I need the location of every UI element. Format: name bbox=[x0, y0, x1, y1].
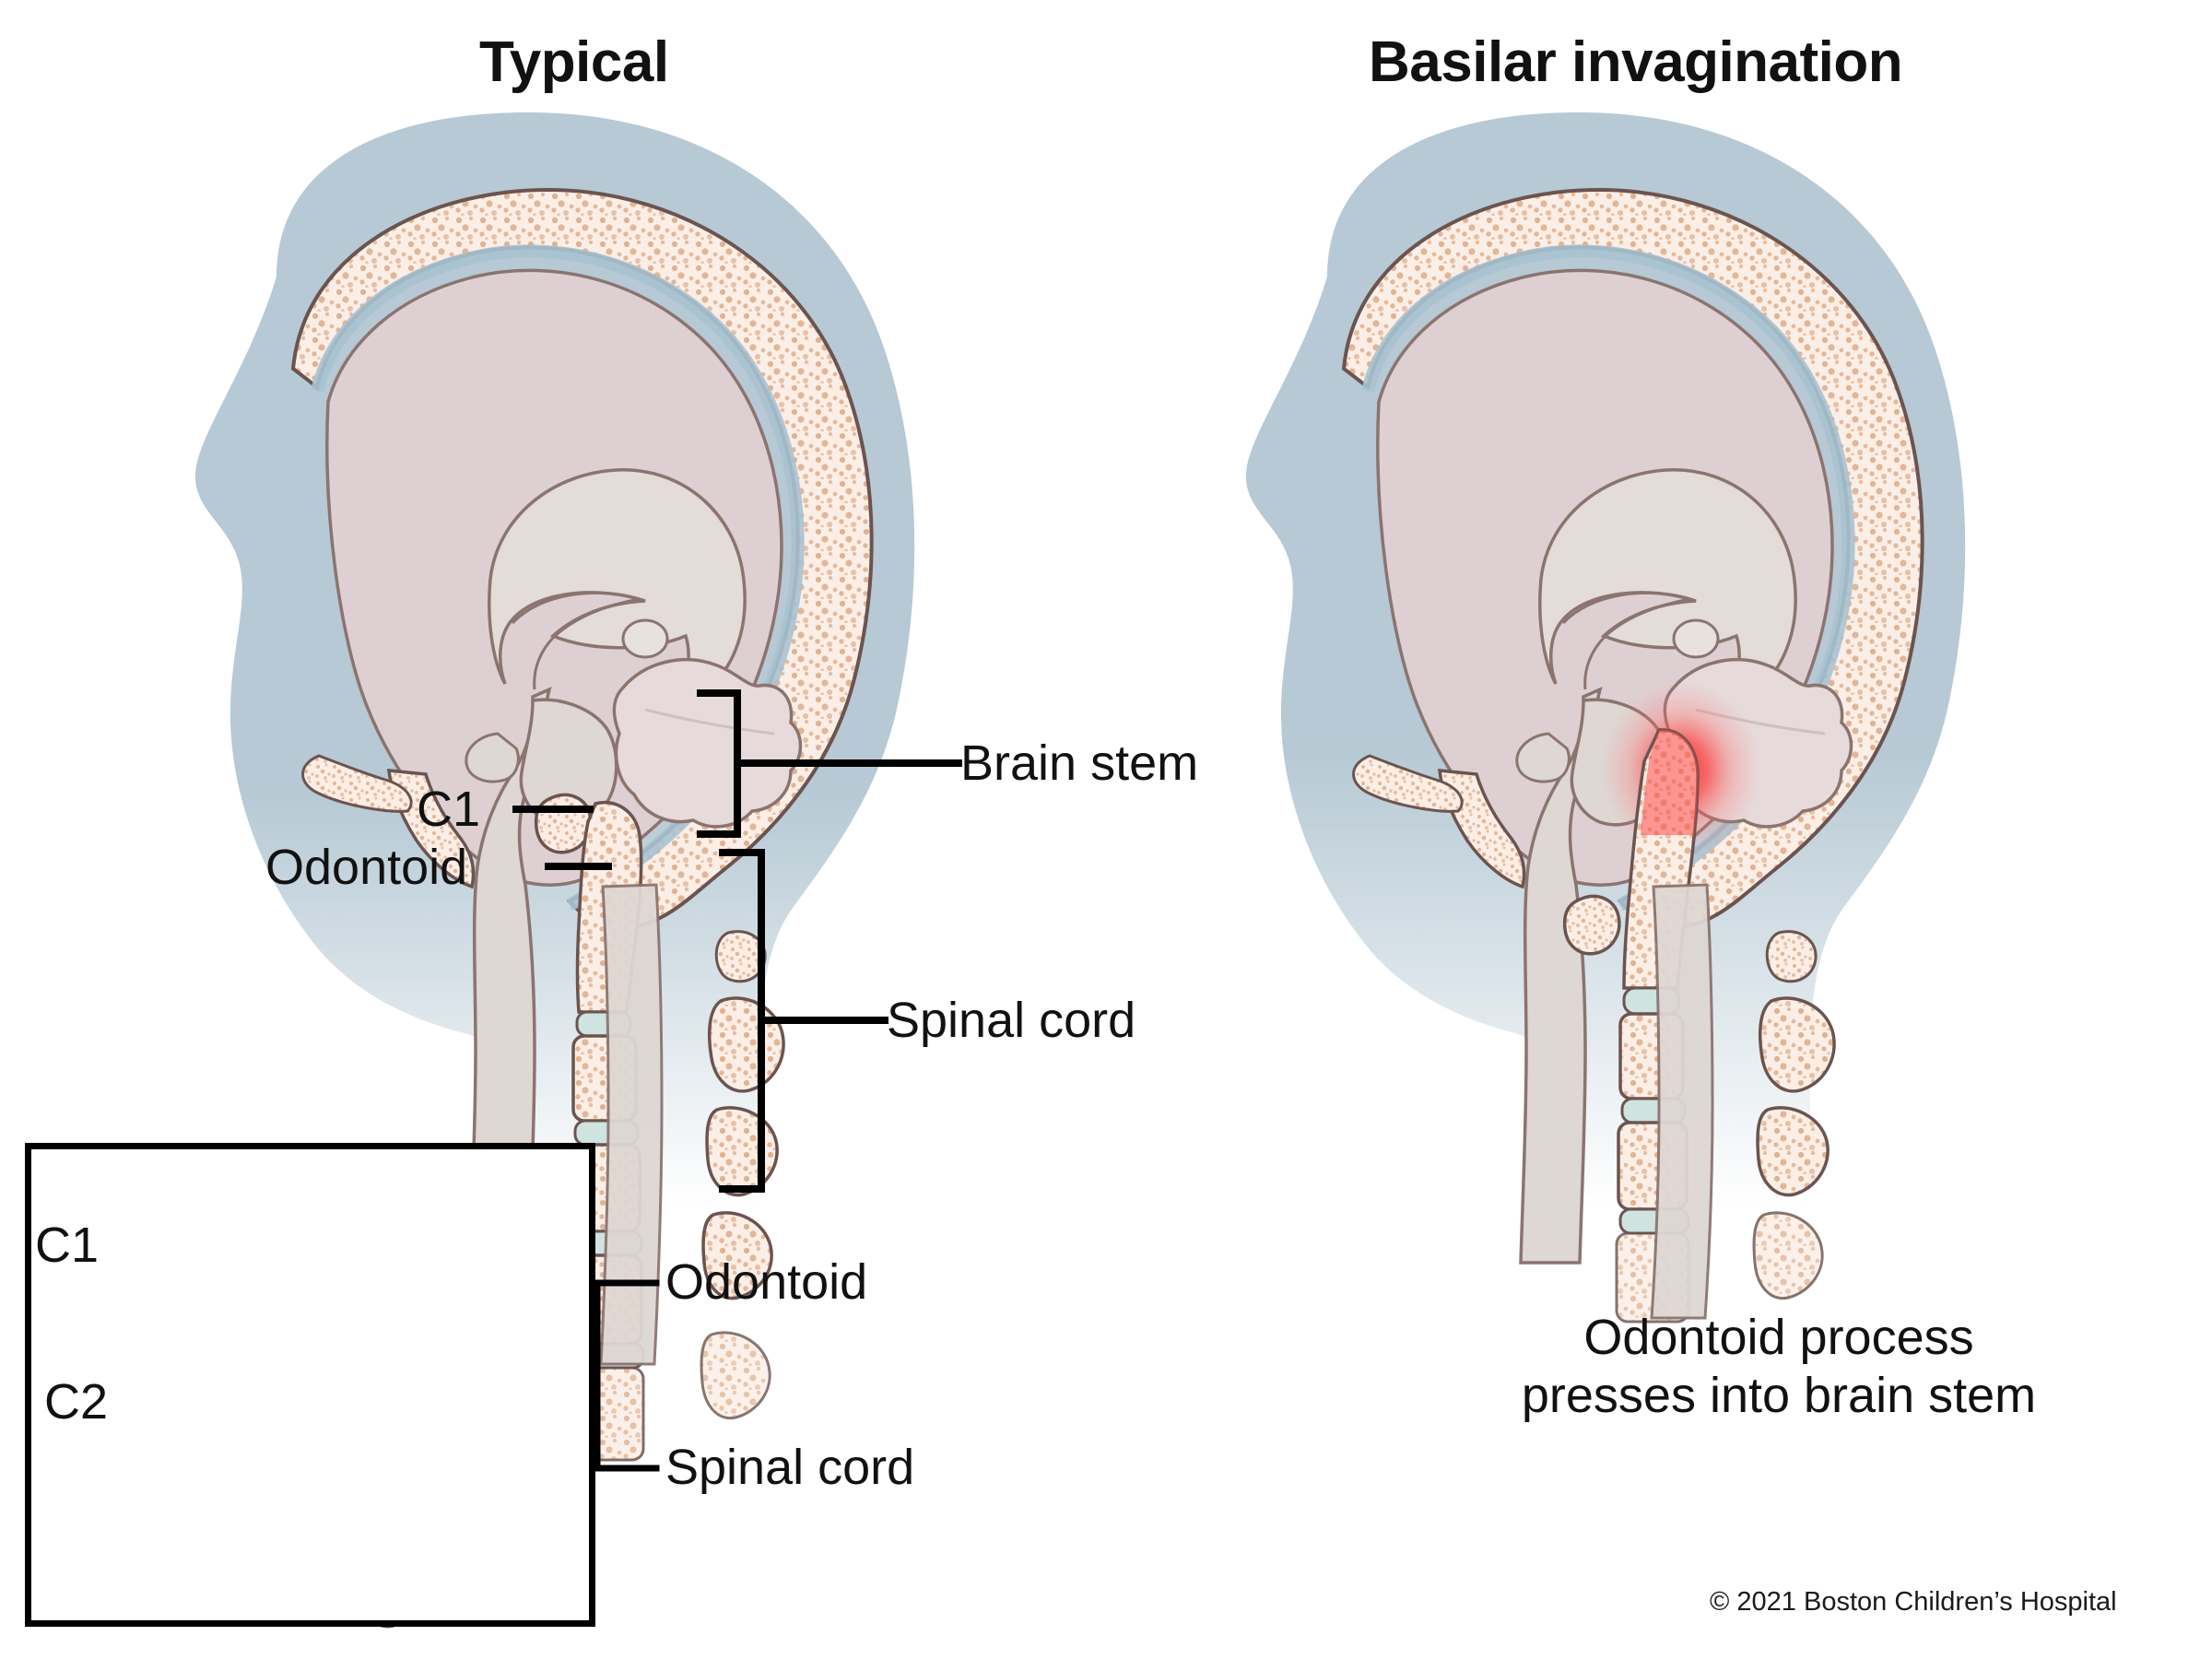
figure-canvas: C1 C2 Typical Basilar invagination Brain… bbox=[0, 0, 2212, 1659]
spinal-cord-left bbox=[601, 885, 662, 1364]
spinous-c3-right bbox=[1758, 1108, 1828, 1195]
basilar-invagination-illustration bbox=[1246, 112, 1965, 1322]
label-odontoid: Odontoid bbox=[265, 839, 467, 896]
panel-title-basilar: Basilar invagination bbox=[1369, 29, 1902, 95]
cerebellum-left bbox=[614, 660, 800, 827]
copyright-notice: © 2021 Boston Children’s Hospital bbox=[1710, 1587, 2117, 1618]
spinous-c2-right bbox=[1760, 998, 1834, 1091]
label-c1: C1 bbox=[417, 781, 480, 838]
inset-label-odontoid: Odontoid bbox=[665, 1253, 867, 1311]
inset-label-spinal-cord: Spinal cord bbox=[665, 1439, 914, 1496]
basilar-caption: Odontoid process presses into brain stem bbox=[1419, 1309, 2138, 1424]
spinal-cord-right bbox=[1652, 885, 1712, 1318]
label-brain-stem: Brain stem bbox=[960, 735, 1198, 792]
spinous-c4-right bbox=[1754, 1213, 1822, 1299]
thalamus-right bbox=[1674, 620, 1718, 657]
c1-anterior-arch-right bbox=[1565, 896, 1619, 953]
spinous-c1-right bbox=[1767, 932, 1816, 982]
spinous-c2-left bbox=[710, 998, 783, 1091]
inset-label-c2: C2 bbox=[44, 1373, 108, 1430]
c1-anterior-arch-left bbox=[536, 794, 591, 852]
spinous-c5-left bbox=[701, 1333, 770, 1418]
spinous-c3-left bbox=[707, 1108, 777, 1195]
vertebrae-inset-frame bbox=[25, 1143, 595, 1627]
label-spinal-cord: Spinal cord bbox=[887, 992, 1135, 1049]
inset-label-c1: C1 bbox=[35, 1217, 99, 1274]
thalamus-left bbox=[623, 620, 667, 657]
panel-title-typical: Typical bbox=[479, 29, 669, 95]
